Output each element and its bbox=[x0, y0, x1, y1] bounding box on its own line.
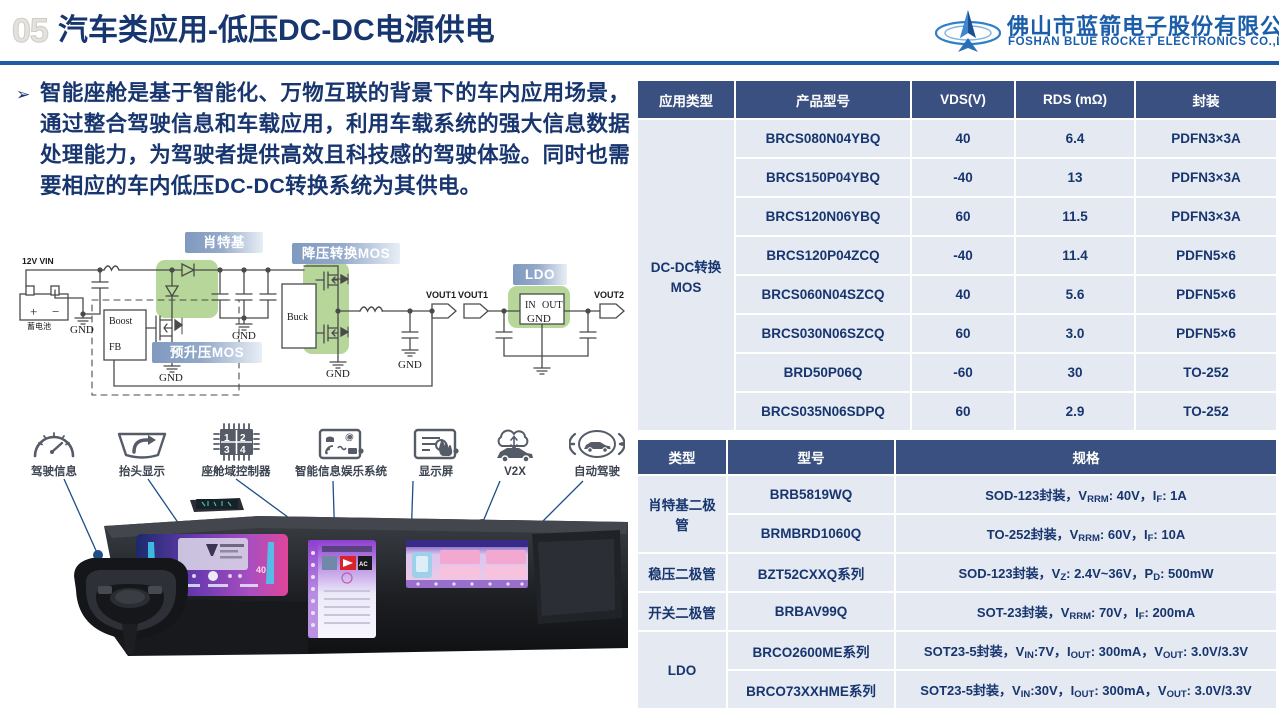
cell-model: BRCO73XXHME系列 bbox=[728, 671, 894, 708]
cell-rds: 11.5 bbox=[1016, 198, 1134, 235]
group-label-line2: MOS bbox=[642, 280, 730, 295]
table-row: 稳压二极管 BZT52CXXQ系列 SOD-123封装，VZ: 2.4V~36V… bbox=[638, 554, 1276, 591]
callout-ldo: LDO bbox=[513, 264, 567, 285]
callout-buck-mos: 降压转换MOS bbox=[292, 243, 400, 264]
group-cell-switching-diode: 开关二极管 bbox=[638, 593, 726, 630]
cell-vds: 60 bbox=[912, 315, 1014, 352]
cell-spec: SOT-23封装，VRRM: 70V，IF: 200mA bbox=[896, 593, 1276, 630]
cell-model: BRCS150P04YBQ bbox=[736, 159, 910, 196]
circuit-label-vout1-b: VOUT1 bbox=[458, 290, 488, 300]
cell-rds: 11.4 bbox=[1016, 237, 1134, 274]
feature-v2x: V2X bbox=[476, 422, 554, 479]
col-package: 封装 bbox=[1136, 81, 1276, 118]
cell-vds: -40 bbox=[912, 159, 1014, 196]
cell-rds: 6.4 bbox=[1016, 120, 1134, 157]
svg-text:4: 4 bbox=[240, 445, 246, 456]
feature-infotainment: @ 智能信息娱乐系统 bbox=[282, 422, 400, 479]
circuit-label-buck: Buck bbox=[287, 312, 308, 323]
cell-spec: TO-252封装，VRRM: 60V，IF: 10A bbox=[896, 515, 1276, 552]
callout-pre-boost-mos: 预升压MOS bbox=[152, 342, 262, 363]
feature-label: 智能信息娱乐系统 bbox=[282, 465, 400, 479]
cell-vds: 60 bbox=[912, 198, 1014, 235]
feature-hud: 抬头显示 bbox=[98, 422, 186, 479]
cell-rds: 3.0 bbox=[1016, 315, 1134, 352]
cell-model: BRMBRD1060Q bbox=[728, 515, 894, 552]
svg-text:3: 3 bbox=[224, 445, 230, 456]
circuit-label-plus: + bbox=[30, 304, 37, 319]
feature-icons-row: 驾驶信息 抬头显示 bbox=[10, 422, 630, 484]
feature-label: 座舱域控制器 bbox=[186, 465, 286, 479]
cell-package: TO-252 bbox=[1136, 393, 1276, 430]
circuit-label-vout2: VOUT2 bbox=[594, 290, 624, 300]
table-row: DC-DC转换 MOS BRCS080N04YBQ 40 6.4 PDFN3×3… bbox=[638, 120, 1276, 157]
center-console-screen: AC bbox=[308, 540, 376, 638]
feature-autonomous: 自动驾驶 bbox=[554, 422, 640, 479]
cell-package: PDFN5×6 bbox=[1136, 276, 1276, 313]
circuit-label-gnd-2: GND bbox=[232, 330, 256, 342]
feature-label: 抬头显示 bbox=[98, 465, 186, 479]
section-number: 05 bbox=[12, 13, 48, 49]
col-spec: 规格 bbox=[896, 440, 1276, 474]
diode-ldo-table: 类型 型号 规格 肖特基二极管 BRB5819WQ SOD-123封装，VRRM… bbox=[636, 438, 1278, 710]
circuit-label-ldo-out: OUT bbox=[542, 300, 563, 311]
cell-package: TO-252 bbox=[1136, 354, 1276, 391]
group-cell-schottky-diode: 肖特基二极管 bbox=[638, 476, 726, 552]
circuit-label-fb: FB bbox=[109, 342, 122, 353]
cell-vds: 40 bbox=[912, 120, 1014, 157]
hud-projector bbox=[190, 498, 244, 512]
cell-rds: 13 bbox=[1016, 159, 1134, 196]
col-type: 类型 bbox=[638, 440, 726, 474]
feature-label: V2X bbox=[476, 465, 554, 479]
svg-text:40: 40 bbox=[256, 565, 266, 575]
hud-icon bbox=[98, 422, 186, 462]
feature-display: 显示屏 bbox=[396, 422, 476, 479]
cell-vds: -40 bbox=[912, 237, 1014, 274]
feature-label: 驾驶信息 bbox=[10, 465, 98, 479]
page-title: 汽车类应用-低压DC-DC电源供电 bbox=[58, 12, 495, 50]
slide-page: 05 汽车类应用-低压DC-DC电源供电 佛山市蓝箭电子股份有限公司 FOSHA… bbox=[0, 0, 1279, 720]
circuit-label-ldo-gnd: GND bbox=[527, 313, 551, 325]
circuit-label-boost: Boost bbox=[109, 316, 133, 327]
group-cell-ldo: LDO bbox=[638, 632, 726, 708]
table-header-row: 类型 型号 规格 bbox=[638, 440, 1276, 474]
col-vds: VDS(V) bbox=[912, 81, 1014, 118]
intro-paragraph: 智能座舱是基于智能化、万物互联的背景下的车内应用场景，通过整合驾驶信息和车载应用… bbox=[40, 78, 630, 202]
cell-model: BRBAV99Q bbox=[728, 593, 894, 630]
company-name-en: FOSHAN BLUE ROCKET ELECTRONICS CO.,LTD. bbox=[1008, 36, 1279, 48]
header-divider bbox=[0, 61, 1279, 65]
col-application-type: 应用类型 bbox=[638, 81, 734, 118]
cell-model: BRCS035N06SDPQ bbox=[736, 393, 910, 430]
cell-package: PDFN5×6 bbox=[1136, 237, 1276, 274]
circuit-label-gnd-5: GND bbox=[398, 359, 422, 371]
feature-label: 自动驾驶 bbox=[554, 465, 640, 479]
cell-spec: SOD-123封装，VRRM: 40V，IF: 1A bbox=[896, 476, 1276, 513]
svg-text:@: @ bbox=[345, 432, 354, 442]
cell-model: BRB5819WQ bbox=[728, 476, 894, 513]
cell-vds: 40 bbox=[912, 276, 1014, 313]
cell-model: BRCS080N04YBQ bbox=[736, 120, 910, 157]
cell-vds: -60 bbox=[912, 354, 1014, 391]
v2x-cloud-car-icon bbox=[476, 422, 554, 462]
cell-spec: SOT23-5封装，VIN:7V，IOUT: 300mA，VOUT: 3.0V/… bbox=[896, 632, 1276, 669]
group-cell-zener-diode: 稳压二极管 bbox=[638, 554, 726, 591]
cell-spec: SOD-123封装，VZ: 2.4V~36V，PD: 500mW bbox=[896, 554, 1276, 591]
cockpit-illustration: 88 40 bbox=[8, 478, 628, 718]
company-logo: 佛山市蓝箭电子股份有限公司 FOSHAN BLUE ROCKET ELECTRO… bbox=[933, 8, 1273, 56]
cell-model: BRCS030N06SZCQ bbox=[736, 315, 910, 352]
autonomous-driving-icon bbox=[554, 422, 640, 462]
dcdc-circuit-diagram: 12V VIN + − 蓄电池 GND GND GND GND GND Boos… bbox=[4, 238, 632, 413]
table-row: 肖特基二极管 BRB5819WQ SOD-123封装，VRRM: 40V，IF:… bbox=[638, 476, 1276, 513]
cell-vds: 60 bbox=[912, 393, 1014, 430]
table-header-row: 应用类型 产品型号 VDS(V) RDS (mΩ) 封装 bbox=[638, 81, 1276, 118]
cell-model: BRD50P06Q bbox=[736, 354, 910, 391]
group-cell-dcdc-mos: DC-DC转换 MOS bbox=[638, 120, 734, 430]
circuit-label-vin: 12V VIN bbox=[22, 256, 54, 266]
table-row: LDO BRCO2600ME系列 SOT23-5封装，VIN:7V，IOUT: … bbox=[638, 632, 1276, 669]
smart-cockpit-photo: 88 40 bbox=[8, 478, 628, 718]
cell-package: PDFN3×3A bbox=[1136, 198, 1276, 235]
circuit-label-gnd-1: GND bbox=[70, 324, 94, 336]
circuit-label-gnd-4: GND bbox=[326, 368, 350, 380]
circuit-label-battery: 蓄电池 bbox=[27, 321, 51, 331]
infotainment-icon: @ bbox=[282, 422, 400, 462]
circuit-label-minus: − bbox=[52, 304, 59, 319]
callout-schottky: 肖特基 bbox=[185, 232, 263, 253]
cell-rds: 5.6 bbox=[1016, 276, 1134, 313]
feature-chip: 1 2 3 4 座舱域控制器 bbox=[186, 422, 286, 479]
table-row: BRCO73XXHME系列 SOT23-5封装，VIN:30V，IOUT: 30… bbox=[638, 671, 1276, 708]
chip-icon: 1 2 3 4 bbox=[186, 422, 286, 462]
cell-model: BRCO2600ME系列 bbox=[728, 632, 894, 669]
table-row: 开关二极管 BRBAV99Q SOT-23封装，VRRM: 70V，IF: 20… bbox=[638, 593, 1276, 630]
svg-text:AC: AC bbox=[359, 562, 368, 568]
col-rds: RDS (mΩ) bbox=[1016, 81, 1134, 118]
cell-rds: 30 bbox=[1016, 354, 1134, 391]
circuit-label-gnd-3: GND bbox=[159, 372, 183, 384]
bullet-arrow-icon: ➢ bbox=[16, 86, 30, 104]
cell-model: BRCS120P04ZCQ bbox=[736, 237, 910, 274]
touchscreen-icon bbox=[396, 422, 476, 462]
col-product-model: 产品型号 bbox=[736, 81, 910, 118]
col-model: 型号 bbox=[728, 440, 894, 474]
cell-rds: 2.9 bbox=[1016, 393, 1134, 430]
circuit-label-vout1-a: VOUT1 bbox=[426, 290, 456, 300]
cell-package: PDFN3×3A bbox=[1136, 159, 1276, 196]
feature-label: 显示屏 bbox=[396, 465, 476, 479]
cell-spec: SOT23-5封装，VIN:30V，IOUT: 300mA，VOUT: 3.0V… bbox=[896, 671, 1276, 708]
cell-model: BZT52CXXQ系列 bbox=[728, 554, 894, 591]
slide-header: 05 汽车类应用-低压DC-DC电源供电 佛山市蓝箭电子股份有限公司 FOSHA… bbox=[0, 0, 1279, 62]
cell-model: BRCS120N06YBQ bbox=[736, 198, 910, 235]
dcdc-mos-table: 应用类型 产品型号 VDS(V) RDS (mΩ) 封装 DC-DC转换 MOS… bbox=[636, 79, 1278, 432]
circuit-label-ldo-in: IN bbox=[525, 300, 536, 311]
feature-gauge: 驾驶信息 bbox=[10, 422, 98, 479]
passenger-wide-screen bbox=[406, 540, 528, 588]
blue-rocket-logo-icon bbox=[933, 8, 1003, 54]
cell-model: BRCS060N04SZCQ bbox=[736, 276, 910, 313]
gauge-icon bbox=[10, 422, 98, 462]
table-row: BRMBRD1060Q TO-252封装，VRRM: 60V，IF: 10A bbox=[638, 515, 1276, 552]
cell-package: PDFN5×6 bbox=[1136, 315, 1276, 352]
group-label-line1: DC-DC转换 bbox=[642, 256, 730, 276]
cell-package: PDFN3×3A bbox=[1136, 120, 1276, 157]
